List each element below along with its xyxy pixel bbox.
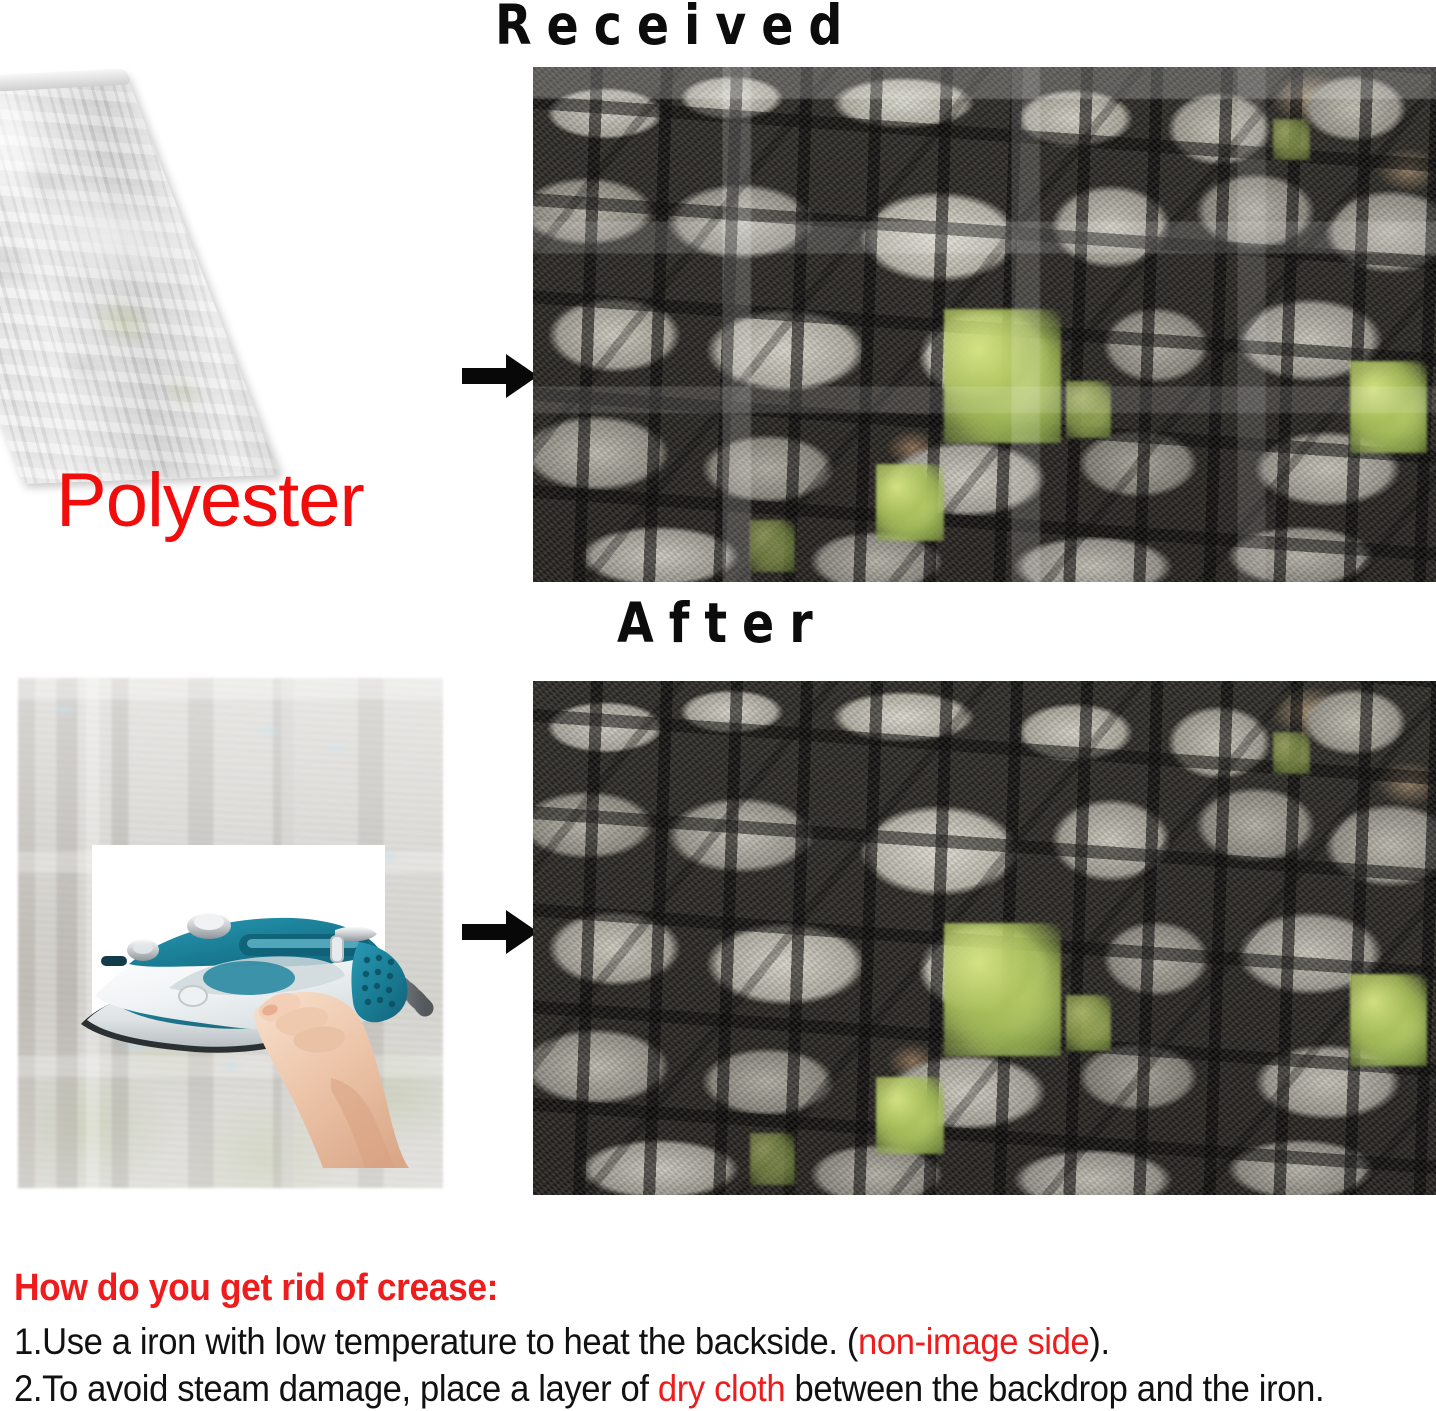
instruction-1-text-a: 1.Use a iron with low temperature to hea… xyxy=(14,1321,858,1362)
arrow-right-icon xyxy=(462,352,538,400)
foliage-clump xyxy=(750,520,795,572)
instruction-line-1: 1.Use a iron with low temperature to hea… xyxy=(14,1319,1342,1364)
foliage-clump xyxy=(1273,732,1309,773)
fabric-sheet xyxy=(0,73,280,484)
instructions-title: How do you get rid of crease: xyxy=(14,1268,1335,1309)
iron-clip-post xyxy=(331,936,343,962)
received-section-heading: Received xyxy=(495,0,857,53)
instructions-block: How do you get rid of crease: 1.Use a ir… xyxy=(14,1268,1434,1411)
steam-iron-icon xyxy=(73,838,433,1168)
iron-handle-inner xyxy=(203,961,295,995)
foliage-clump xyxy=(944,923,1061,1057)
after-section-heading: After xyxy=(617,596,828,651)
iron-rear-cap xyxy=(351,942,407,1022)
material-label: Polyester xyxy=(56,463,364,539)
foliage-clump xyxy=(1350,361,1427,454)
foliage-clump xyxy=(750,1133,795,1184)
fish-accent xyxy=(52,704,78,715)
arrow-right-icon xyxy=(462,908,538,956)
folded-fabric-photo xyxy=(18,82,374,486)
iron-temperature-dial-top xyxy=(133,942,153,954)
foliage-clump xyxy=(1066,381,1111,438)
foliage-clump xyxy=(876,464,944,541)
iron-spray-button xyxy=(179,986,207,1006)
instruction-2-highlight: dry cloth xyxy=(658,1368,785,1409)
foliage-clump xyxy=(1350,974,1427,1067)
after-backdrop-photo xyxy=(533,681,1436,1195)
received-backdrop-photo xyxy=(533,67,1436,582)
fish-accent xyxy=(252,724,282,736)
instruction-2-text-b: between the backdrop and the iron. xyxy=(785,1368,1324,1409)
foliage-clump xyxy=(876,1077,944,1154)
fish-accent xyxy=(324,744,350,754)
iron-nose-vent xyxy=(101,956,127,966)
instruction-line-2: 2.To avoid steam damage, place a layer o… xyxy=(14,1366,1342,1411)
foliage-clump xyxy=(944,309,1061,443)
iron-steam-knob-top xyxy=(194,914,224,930)
foliage-clump xyxy=(1066,995,1111,1052)
instruction-1-text-b: ). xyxy=(1089,1321,1109,1362)
foliage-clump xyxy=(1273,119,1309,160)
instruction-2-text-a: 2.To avoid steam damage, place a layer o… xyxy=(14,1368,658,1409)
fabric-fold-skew-wrapper xyxy=(0,70,369,486)
ironing-demo-photo xyxy=(18,678,443,1188)
instruction-1-highlight: non-image side xyxy=(858,1321,1089,1362)
